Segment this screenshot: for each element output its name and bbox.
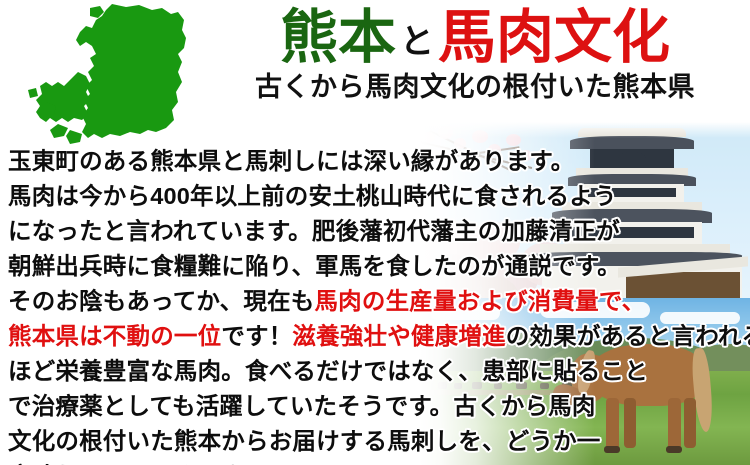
title-part-to: と [396,24,438,61]
body-copy: 玉東町のある熊本県と馬刺しには深い縁があります。馬肉は今から400年以上前の安土… [8,144,750,465]
body-line: になったと言われています。肥後藩初代藩主の加藤清正が [8,214,750,249]
page-title: 熊本と馬肉文化 [200,8,750,73]
body-line: そのお陰もあってか、現在も馬肉の生産量および消費量で、 [8,284,750,319]
body-text: ほど栄養豊富な馬肉。食べるだけではなく、患部に貼ること [8,358,648,384]
body-line: 朝鮮出兵時に食糧難に陥り、軍馬を食したのが通説です。 [8,249,750,284]
body-text: 玉東町のある熊本県と馬刺しには深い縁があります。 [8,148,574,174]
body-text-highlight: 滋養強壮や健康増進 [292,323,505,349]
body-text: になったと言われています。肥後藩初代藩主の加藤清正が [8,218,620,244]
photo-top-fade [420,122,750,138]
page-subtitle: 古くから馬肉文化の根付いた熊本県 [200,70,750,104]
body-text: そのお陰もあってか、現在も [8,288,314,314]
body-text: 文化の根付いた熊本からお届けする馬刺しを、どうか一 [8,428,601,454]
title-part-horsemeat-culture: 馬肉文化 [438,5,670,70]
title-part-kumamoto: 熊本 [280,5,396,70]
promo-banner: 熊本と馬肉文化 古くから馬肉文化の根付いた熊本県 玉東町のある熊本県と馬刺しには… [0,0,750,465]
body-line: 馬肉は今から400年以上前の安土桃山時代に食されるよう [8,179,750,214]
body-text: 朝鮮出兵時に食糧難に陥り、軍馬を食したのが通説です。 [8,253,621,279]
body-text-highlight: 馬肉の生産量および消費量で、 [314,288,645,314]
body-text: です！ [221,323,292,349]
body-line: 玉東町のある熊本県と馬刺しには深い縁があります。 [8,144,750,179]
body-text: 馬肉は今から400年以上前の安土桃山時代に食されるよう [8,183,617,209]
body-line: で治療薬としても活躍していたそうです。古くから馬肉 [8,389,750,424]
body-text: で治療薬としても活躍していたそうです。古くから馬肉 [8,393,596,419]
body-line: 度味わってみてください。 [8,459,750,465]
body-line: 熊本県は不動の一位です！滋養強壮や健康増進の効果があると言われる [8,319,750,354]
body-text-highlight: 熊本県は不動の一位 [8,323,221,349]
header: 熊本と馬肉文化 古くから馬肉文化の根付いた熊本県 [200,0,750,118]
body-line: ほど栄養豊富な馬肉。食べるだけではなく、患部に貼ること [8,354,750,389]
body-line: 文化の根付いた熊本からお届けする馬刺しを、どうか一 [8,424,750,459]
kumamoto-prefecture-map-icon [6,2,196,152]
body-text: の効果があると言われる [506,323,750,349]
